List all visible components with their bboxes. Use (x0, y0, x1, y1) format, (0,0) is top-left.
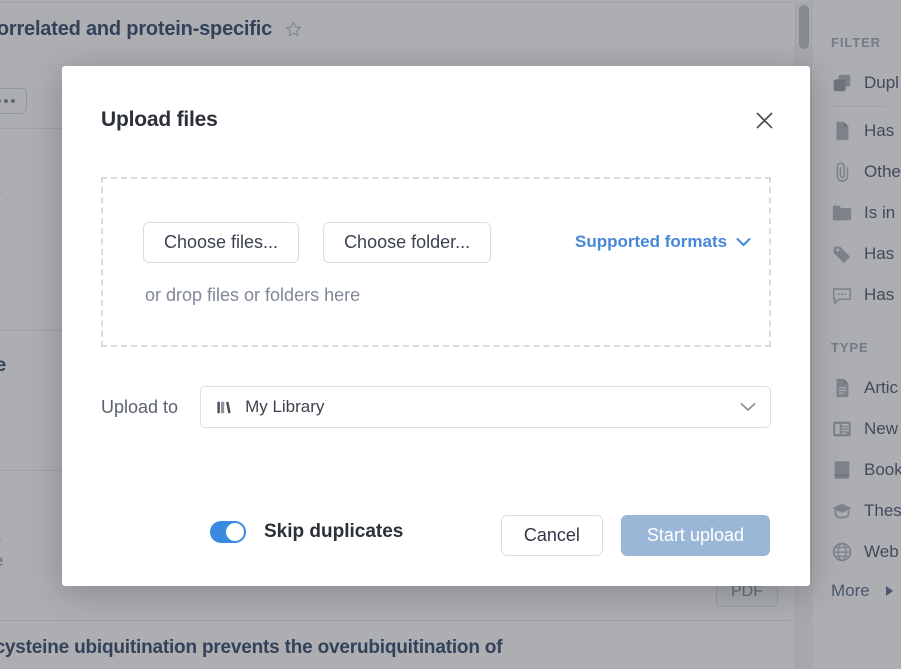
library-books-icon (215, 398, 234, 417)
skip-duplicates-row: Skip duplicates (210, 521, 403, 543)
dropzone-buttons: Choose files... Choose folder... (143, 222, 491, 263)
upload-to-row: Upload to My Library (101, 386, 771, 428)
choose-folder-button[interactable]: Choose folder... (323, 222, 491, 263)
skip-duplicates-toggle[interactable] (210, 521, 246, 543)
cancel-button[interactable]: Cancel (501, 515, 603, 556)
start-upload-button[interactable]: Start upload (621, 515, 770, 556)
app-root: ss and protein evolvability are correlat… (0, 0, 901, 669)
upload-to-label: Upload to (101, 397, 178, 418)
upload-files-dialog: Upload files Choose files... Choose fold… (62, 66, 810, 586)
dropzone-hint-text: or drop files or folders here (145, 285, 360, 306)
file-dropzone[interactable]: Choose files... Choose folder... Support… (101, 177, 771, 347)
library-select[interactable]: My Library (200, 386, 771, 428)
skip-duplicates-label: Skip duplicates (264, 521, 403, 543)
dialog-footer: Cancel Start upload (501, 515, 770, 556)
dialog-header: Upload files (62, 66, 810, 142)
library-select-value: My Library (245, 397, 324, 417)
supported-formats-link[interactable]: Supported formats (575, 232, 751, 252)
chevron-down-icon (736, 237, 751, 247)
chevron-down-icon (740, 402, 756, 412)
toggle-knob (226, 523, 244, 541)
choose-files-button[interactable]: Choose files... (143, 222, 299, 263)
dialog-title: Upload files (101, 108, 218, 132)
close-icon[interactable] (750, 106, 778, 134)
supported-formats-label: Supported formats (575, 232, 727, 252)
